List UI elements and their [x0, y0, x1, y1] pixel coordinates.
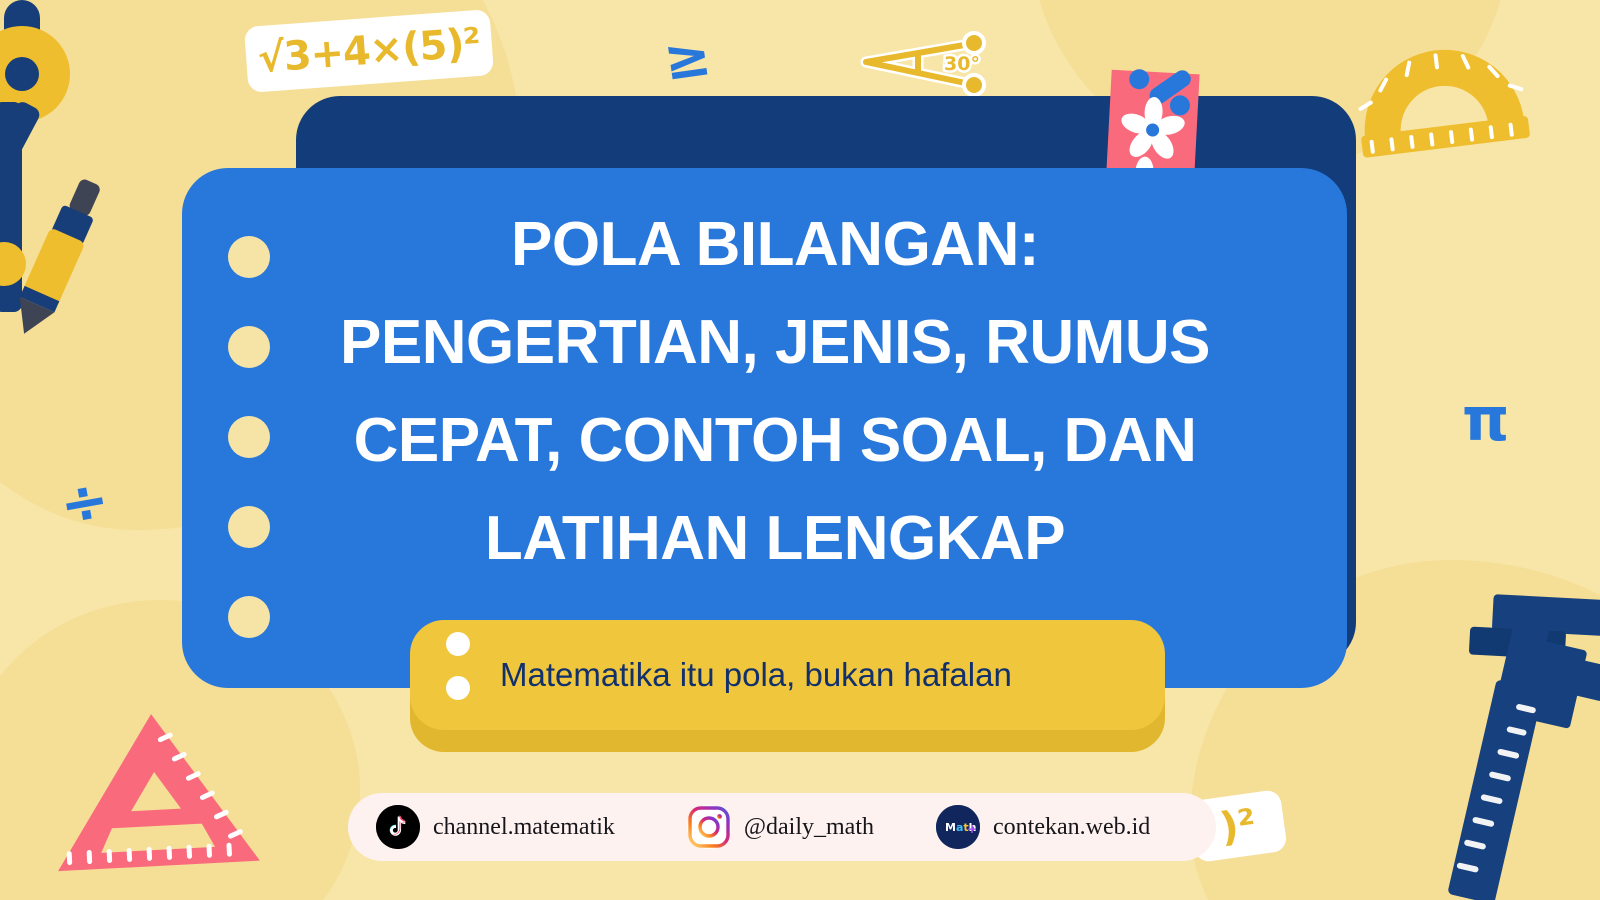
social-footer-bar: channel.matematik [348, 793, 1216, 861]
pi-icon: π [1462, 385, 1509, 455]
subtitle-dot [446, 676, 470, 700]
title-line-3: CEPAT, CONTOH SOAL, DAN [270, 392, 1280, 490]
footer-item-tiktok[interactable]: channel.matematik [376, 805, 615, 849]
triangle-ruler-icon [40, 700, 270, 880]
subtitle-dot [446, 632, 470, 656]
instagram-icon [687, 805, 731, 849]
title-line-1: POLA BILANGAN: [270, 196, 1280, 294]
protractor-icon [1352, 48, 1532, 148]
footer-label-website: contekan.web.id [993, 814, 1150, 841]
binder-hole [228, 416, 270, 458]
subtitle-pill-dots [446, 632, 470, 720]
binder-hole [228, 326, 270, 368]
compass-icon [0, 0, 208, 332]
footer-label-instagram: @daily_math [744, 814, 874, 841]
svg-text:30°: 30° [944, 53, 980, 75]
footer-item-website[interactable]: Math + contekan.web.id [936, 805, 1150, 849]
subtitle-text: Matematika itu pola, bukan hafalan [500, 620, 1140, 730]
footer-item-instagram[interactable]: @daily_math [687, 805, 874, 849]
caliper-icon [1390, 585, 1600, 900]
angle-30-icon: 30° [852, 32, 1002, 94]
greater-equal-icon: ≥ [660, 23, 716, 94]
binder-hole [228, 506, 270, 548]
poster-canvas: √3+4×(5)² ≥ 30° [0, 0, 1600, 900]
svg-text:+: + [967, 822, 977, 836]
page-title: POLA BILANGAN: PENGERTIAN, JENIS, RUMUS … [270, 196, 1280, 588]
square-sticker-text: )² [1217, 801, 1259, 852]
footer-label-tiktok: channel.matematik [433, 814, 615, 841]
binder-holes [228, 236, 274, 686]
binder-hole [228, 596, 270, 638]
title-line-2: PENGERTIAN, JENIS, RUMUS [270, 294, 1280, 392]
tiktok-icon [376, 805, 420, 849]
formula-sticker-text: √3+4×(5)² [256, 20, 481, 82]
title-line-4: LATIHAN LENGKAP [270, 490, 1280, 588]
binder-hole [228, 236, 270, 278]
math-logo-icon: Math + [936, 805, 980, 849]
